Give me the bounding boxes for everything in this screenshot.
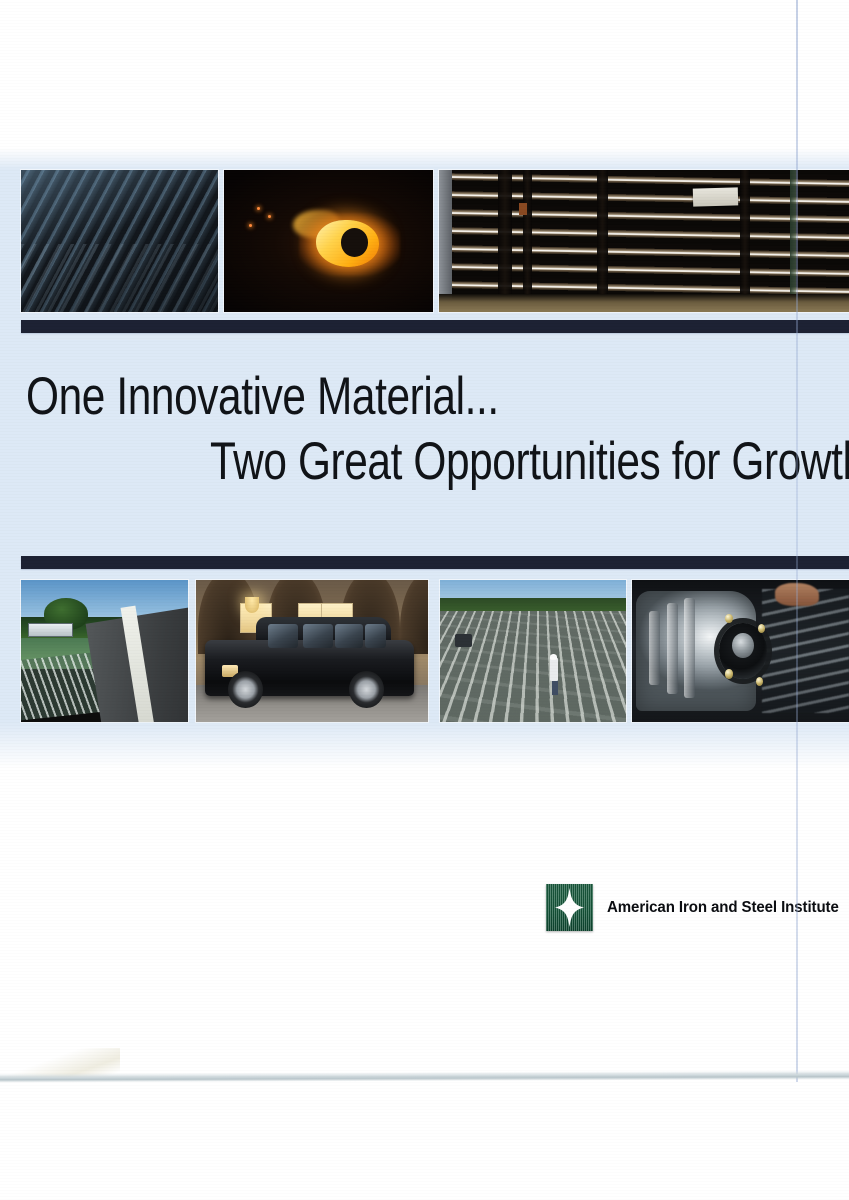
hub-bolt (756, 677, 763, 686)
photo-black-suv (196, 580, 428, 722)
four-point-star-icon (546, 884, 593, 931)
page-bottom-fade (0, 722, 849, 768)
strapping-band (597, 170, 608, 312)
casting-rib (684, 598, 695, 697)
photo-highway-guardrail (21, 580, 188, 722)
strapping-band (523, 170, 532, 312)
suv-wheel (349, 671, 384, 708)
page-bottom-edge (0, 1070, 849, 1082)
page-title: One Innovative Material... Two Great Opp… (0, 370, 849, 488)
scanned-page: One Innovative Material... Two Great Opp… (0, 0, 849, 1200)
suv-window (365, 624, 386, 648)
strapping-band (498, 170, 512, 312)
bottom-photo-strip (21, 580, 849, 722)
bundle-label-tag (693, 188, 739, 208)
warehouse-floor (439, 294, 849, 312)
hub-bolt (725, 614, 732, 623)
warehouse-wall (439, 170, 452, 312)
worker-torso (550, 658, 558, 681)
steel-rebar-mat (440, 611, 626, 722)
photo-rebar-roadbed (440, 580, 626, 722)
worker-hardhat (550, 654, 557, 660)
highway-truck (28, 623, 73, 638)
casting-rib (649, 611, 660, 685)
photo-transmission-housing (632, 580, 849, 722)
construction-equipment (455, 634, 472, 647)
hub-bolt (725, 669, 732, 678)
upper-divider-rule (21, 320, 849, 333)
billet-notch (341, 228, 368, 256)
strapping-band (740, 170, 750, 312)
suv-window (303, 624, 333, 648)
top-photo-strip (21, 170, 849, 312)
rails-lighting (21, 170, 218, 312)
lower-divider-rule (21, 556, 849, 569)
suv-wheel (228, 671, 263, 708)
page-top-fade (0, 148, 849, 170)
hub-center (732, 633, 754, 659)
photo-molten-steel (224, 170, 433, 312)
suv-window (268, 624, 298, 648)
photo-steel-rails (21, 170, 218, 312)
photo-steel-tubes (439, 170, 849, 312)
aisi-logo: American Iron and Steel Institute (546, 884, 849, 931)
street-lamp (245, 597, 259, 613)
casting-rib (667, 603, 678, 694)
suv-window (335, 624, 363, 648)
scanner-seam-line (796, 0, 798, 1082)
rack-divider (790, 170, 796, 312)
headline-line-1: One Innovative Material... (26, 370, 684, 423)
rust-mark (519, 203, 526, 216)
headline-line-2: Two Great Opportunities for Growth (210, 435, 721, 488)
drive-shaft-assembly (762, 589, 849, 714)
aisi-logo-text: American Iron and Steel Institute (607, 899, 839, 917)
